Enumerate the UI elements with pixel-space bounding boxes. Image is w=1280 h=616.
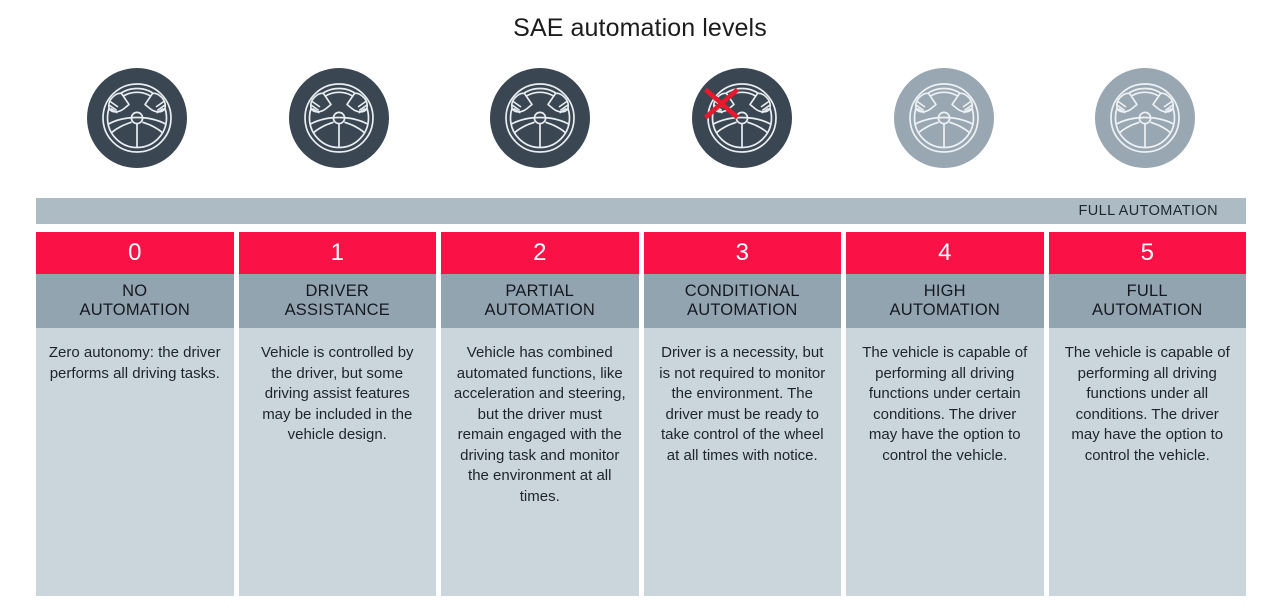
icon-cell-5 [1044, 68, 1246, 193]
icon-cell-0 [36, 68, 238, 193]
level-name: DRIVER ASSISTANCE [239, 274, 437, 328]
icon-cell-1 [238, 68, 440, 193]
level-name-line-1: CONDITIONAL [685, 282, 800, 300]
level-name-line-2: AUTOMATION [890, 301, 1000, 319]
level-number: 4 [846, 232, 1044, 274]
steering-wheel-hands-icon [490, 68, 590, 168]
sae-automation-levels-infographic: SAE automation levels [0, 0, 1280, 616]
level-name-line-1: NO [122, 282, 147, 300]
steering-wheel-hands-icon [1095, 68, 1195, 168]
icon-cell-3 [641, 68, 843, 193]
icon-cell-4 [843, 68, 1045, 193]
level-name-line-2: AUTOMATION [80, 301, 190, 319]
level-name: FULL AUTOMATION [1049, 274, 1247, 328]
icon-row [36, 68, 1246, 193]
level-column-2[interactable]: 2 PARTIAL AUTOMATION Vehicle has combine… [441, 232, 639, 596]
level-number: 3 [644, 232, 842, 274]
icon-cell-2 [439, 68, 641, 193]
level-name-line-1: PARTIAL [505, 282, 574, 300]
level-column-1[interactable]: 1 DRIVER ASSISTANCE Vehicle is controlle… [239, 232, 437, 596]
steering-wheel-hands-icon [894, 68, 994, 168]
level-column-5[interactable]: 5 FULL AUTOMATION The vehicle is capable… [1049, 232, 1247, 596]
page-title: SAE automation levels [0, 14, 1280, 43]
level-name-line-2: ASSISTANCE [285, 301, 390, 319]
level-description: Driver is a necessity, but is not requir… [644, 328, 842, 596]
level-name-line-1: DRIVER [305, 282, 369, 300]
level-description: Vehicle has combined automated functions… [441, 328, 639, 596]
level-number: 1 [239, 232, 437, 274]
level-name: HIGH AUTOMATION [846, 274, 1044, 328]
level-description: The vehicle is capable of performing all… [1049, 328, 1247, 596]
level-column-0[interactable]: 0 NO AUTOMATION Zero autonomy: the drive… [36, 232, 234, 596]
full-automation-bar-label: FULL AUTOMATION [1079, 203, 1246, 219]
level-name-line-1: HIGH [924, 282, 966, 300]
level-name-line-2: AUTOMATION [687, 301, 797, 319]
levels-table: 0 NO AUTOMATION Zero autonomy: the drive… [36, 232, 1246, 596]
level-description: The vehicle is capable of performing all… [846, 328, 1044, 596]
level-name-line-2: AUTOMATION [1092, 301, 1202, 319]
level-name: CONDITIONAL AUTOMATION [644, 274, 842, 328]
steering-wheel-hands-crossed-icon [692, 68, 792, 168]
steering-wheel-hands-icon [289, 68, 389, 168]
level-description: Zero autonomy: the driver performs all d… [36, 328, 234, 596]
level-number: 0 [36, 232, 234, 274]
level-name-line-2: AUTOMATION [485, 301, 595, 319]
full-automation-bar: FULL AUTOMATION [36, 198, 1246, 224]
level-column-3[interactable]: 3 CONDITIONAL AUTOMATION Driver is a nec… [644, 232, 842, 596]
level-name: PARTIAL AUTOMATION [441, 274, 639, 328]
steering-wheel-hands-icon [87, 68, 187, 168]
level-description: Vehicle is controlled by the driver, but… [239, 328, 437, 596]
level-column-4[interactable]: 4 HIGH AUTOMATION The vehicle is capable… [846, 232, 1044, 596]
level-number: 5 [1049, 232, 1247, 274]
level-name-line-1: FULL [1127, 282, 1168, 300]
level-number: 2 [441, 232, 639, 274]
level-name: NO AUTOMATION [36, 274, 234, 328]
